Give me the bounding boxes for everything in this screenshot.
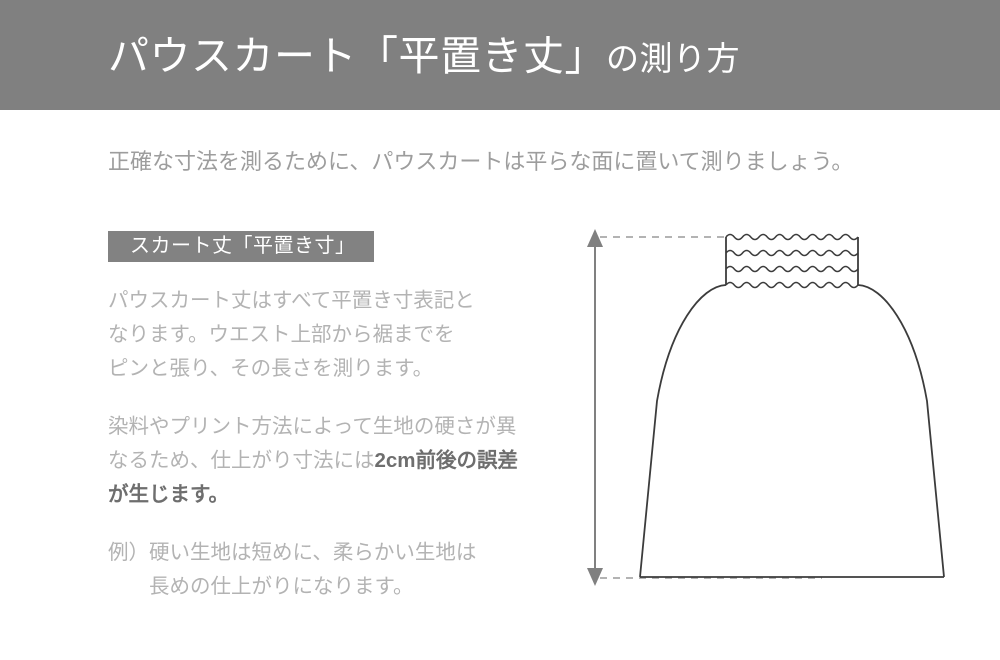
- paragraph-example-note: 例）硬い生地は短めに、柔らかい生地は長めの仕上がりになります。: [108, 536, 528, 604]
- measure-arrow-head-bottom-icon: [587, 568, 603, 586]
- example-body: 硬い生地は短めに、柔らかい生地は長めの仕上がりになります。: [149, 536, 501, 604]
- smocked-waistband: [726, 235, 858, 288]
- paragraph-tolerance-note: 染料やプリント方法によって生地の硬さが異なるため、仕上がり寸法には2cm前後の誤…: [108, 410, 528, 512]
- paragraph-line: 長めの仕上がりになります。: [149, 575, 413, 598]
- header-bar: パウスカート「平置き丈」の測り方: [0, 0, 1000, 110]
- skirt-silhouette: [640, 285, 944, 577]
- skirt-left-edge: [640, 285, 726, 577]
- paragraph-line: なります。ウエスト上部から裾までを: [108, 323, 454, 346]
- page-title-main: パウスカート「平置き丈」: [108, 33, 606, 79]
- intro-text: 正確な寸法を測るために、パウスカートは平らな面に置いて測りましょう。: [108, 146, 853, 178]
- skirt-right-edge: [858, 285, 944, 577]
- waistband-wave-row: [726, 235, 858, 240]
- paragraph-line: パウスカート丈はすべて平置き寸表記と: [108, 289, 475, 312]
- left-content-column: スカート丈「平置き寸」 パウスカート丈はすべて平置き寸表記と なります。ウエスト…: [108, 231, 528, 604]
- waistband-wave-row: [726, 267, 858, 272]
- measure-arrow-head-top-icon: [587, 229, 603, 247]
- page-title-suffix: の測り方: [606, 40, 740, 77]
- waistband-wave-row: [726, 283, 858, 288]
- example-label: 例）: [108, 536, 149, 570]
- paragraph-measurement-method: パウスカート丈はすべて平置き寸表記と なります。ウエスト上部から裾までを ピンと…: [108, 284, 528, 386]
- page-title: パウスカート「平置き丈」の測り方: [108, 32, 740, 83]
- section-badge: スカート丈「平置き寸」: [108, 231, 374, 262]
- pau-skirt-flat-length-diagram: [560, 215, 990, 605]
- paragraph-line: ピンと張り、その長さを測ります。: [108, 357, 433, 380]
- paragraph-line: 硬い生地は短めに、柔らかい生地は: [149, 541, 476, 564]
- waistband-wave-row: [726, 251, 858, 256]
